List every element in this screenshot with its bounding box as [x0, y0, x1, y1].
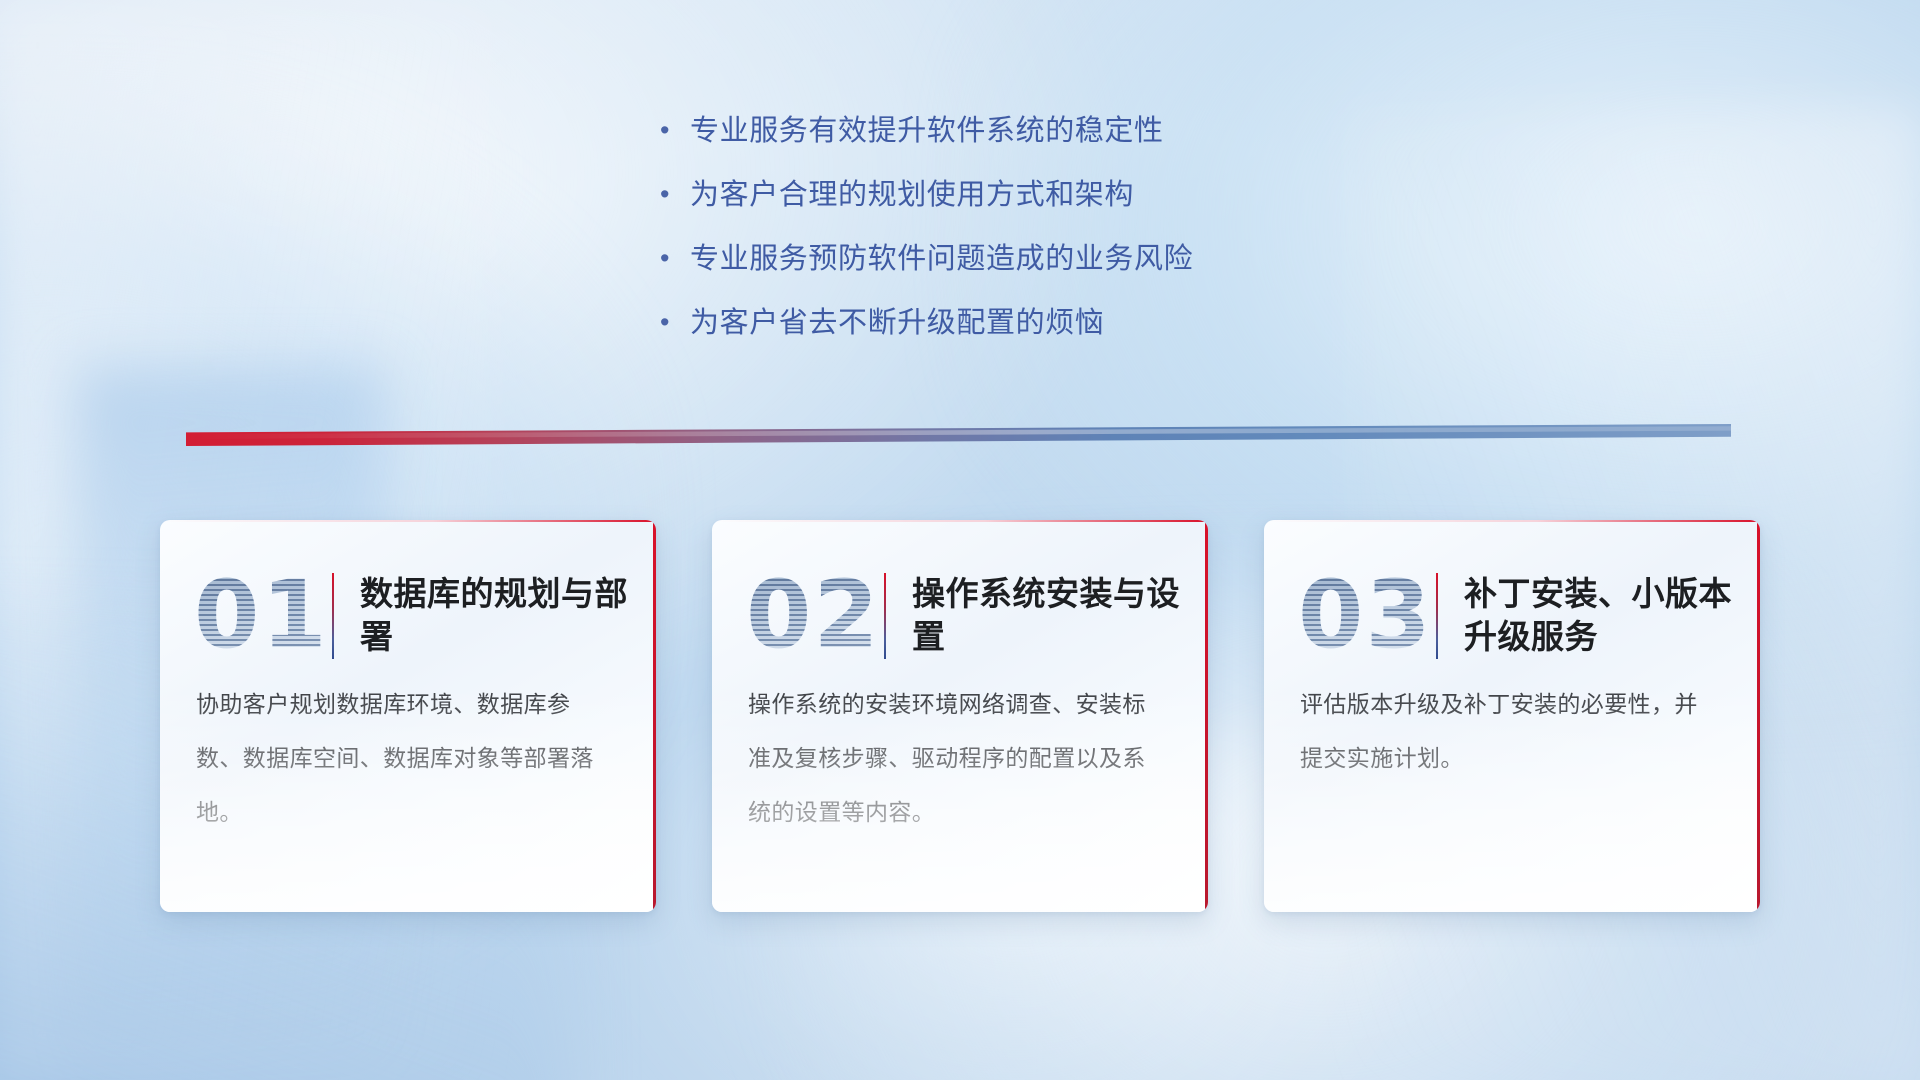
list-item: • 专业服务有效提升软件系统的稳定性 [660, 108, 1193, 172]
bullet-marker-icon: • [660, 236, 690, 280]
card-number: 02 [746, 569, 884, 663]
list-item: • 专业服务预防软件问题造成的业务风险 [660, 236, 1193, 300]
card-divider-bar [884, 573, 886, 659]
bullet-text: 专业服务有效提升软件系统的稳定性 [690, 108, 1164, 152]
card-title: 数据库的规划与部署 [360, 573, 652, 659]
service-cards-row: 01 数据库的规划与部署 协助客户规划数据库环境、数据库参数、数据库空间、数据库… [0, 520, 1920, 920]
bullet-text: 为客户省去不断升级配置的烦恼 [690, 300, 1104, 344]
bullet-marker-icon: • [660, 300, 690, 344]
card-header: 02 操作系统安装与设置 [712, 520, 1208, 678]
card-description: 评估版本升级及补丁安装的必要性，并提交实施计划。 [1264, 678, 1760, 786]
list-item: • 为客户合理的规划使用方式和架构 [660, 172, 1193, 236]
card-description: 协助客户规划数据库环境、数据库参数、数据库空间、数据库对象等部署落地。 [160, 678, 656, 840]
bullet-marker-icon: • [660, 108, 690, 152]
bullet-text: 专业服务预防软件问题造成的业务风险 [690, 236, 1193, 280]
card-header: 01 数据库的规划与部署 [160, 520, 656, 678]
bullet-text: 为客户合理的规划使用方式和架构 [690, 172, 1134, 216]
card-description: 操作系统的安装环境网络调查、安装标准及复核步骤、驱动程序的配置以及系统的设置等内… [712, 678, 1208, 840]
service-card-01[interactable]: 01 数据库的规划与部署 协助客户规划数据库环境、数据库参数、数据库空间、数据库… [160, 520, 656, 912]
card-header: 03 补丁安装、小版本升级服务 [1264, 520, 1760, 678]
card-number: 01 [194, 569, 332, 663]
bullet-marker-icon: • [660, 172, 690, 216]
card-title: 操作系统安装与设置 [912, 573, 1204, 659]
card-number: 03 [1298, 569, 1436, 663]
benefits-bullet-list: • 专业服务有效提升软件系统的稳定性 • 为客户合理的规划使用方式和架构 • 专… [660, 108, 1193, 364]
card-title: 补丁安装、小版本升级服务 [1464, 573, 1756, 659]
section-divider [186, 424, 1731, 446]
service-card-03[interactable]: 03 补丁安装、小版本升级服务 评估版本升级及补丁安装的必要性，并提交实施计划。 [1264, 520, 1760, 912]
list-item: • 为客户省去不断升级配置的烦恼 [660, 300, 1193, 364]
card-divider-bar [332, 573, 334, 659]
card-divider-bar [1436, 573, 1438, 659]
service-card-02[interactable]: 02 操作系统安装与设置 操作系统的安装环境网络调查、安装标准及复核步骤、驱动程… [712, 520, 1208, 912]
